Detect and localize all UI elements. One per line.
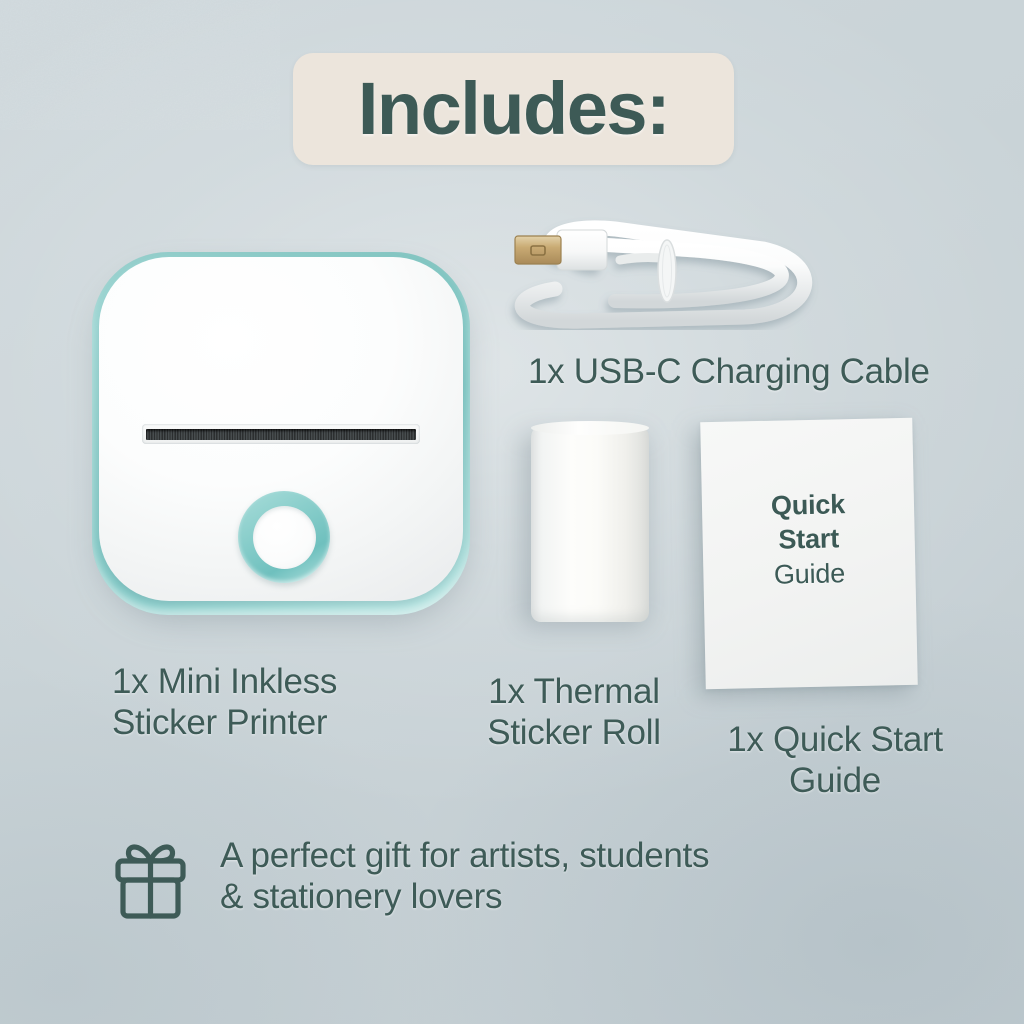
- printer-paper-slot: [142, 424, 420, 444]
- gift-icon: [112, 840, 190, 920]
- caption-usb-c-charging-cable: 1x USB-C Charging Cable: [528, 352, 930, 393]
- background-texture: [0, 0, 280, 130]
- header-banner: Includes:: [293, 53, 734, 165]
- product-thermal-sticker-roll: [531, 426, 656, 625]
- footer-note: A perfect gift for artists, students & s…: [112, 836, 709, 920]
- guide-cover: Quick Start Guide: [700, 418, 918, 689]
- roll-body: [531, 426, 649, 622]
- roll-top-edge: [531, 421, 649, 435]
- caption-thermal-sticker-roll: 1x Thermal Sticker Roll: [440, 672, 708, 753]
- printer-body: [99, 257, 463, 601]
- printer-paper-slot-teeth: [146, 429, 416, 440]
- guide-cover-line-2: Start: [778, 522, 839, 558]
- caption-mini-inkless-sticker-printer: 1x Mini Inkless Sticker Printer: [112, 662, 337, 743]
- product-printer: [92, 252, 470, 615]
- guide-cover-line-3: Guide: [774, 556, 846, 592]
- product-usb-c-cable: [495, 205, 840, 330]
- product-quick-start-guide: Quick Start Guide: [700, 418, 918, 689]
- footer-text: A perfect gift for artists, students & s…: [220, 836, 709, 918]
- page-title: Includes:: [358, 72, 669, 146]
- usb-plug: [515, 230, 607, 270]
- guide-cover-line-1: Quick: [771, 487, 846, 523]
- printer-power-button-center: [253, 506, 316, 569]
- caption-quick-start-guide: 1x Quick Start Guide: [690, 720, 980, 801]
- product-includes-scene: Includes: 1x Mini Inkless Sticker Printe…: [0, 0, 1024, 1024]
- usb-cable-illustration: [495, 205, 840, 330]
- printer-power-button: [238, 491, 330, 583]
